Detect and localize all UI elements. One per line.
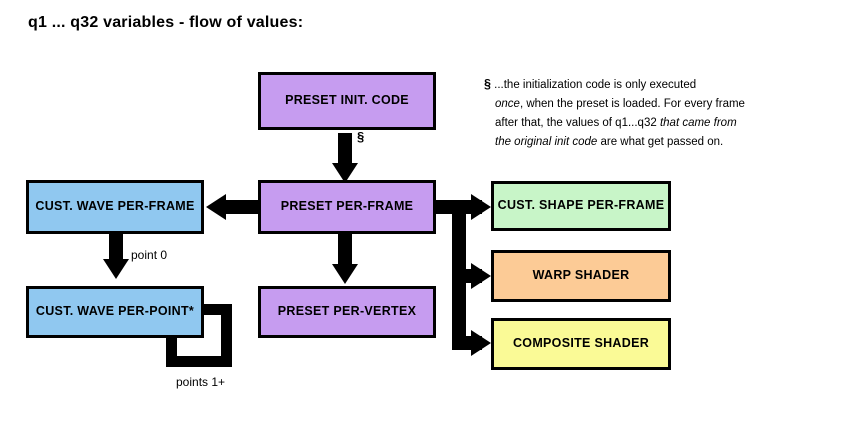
node-cust-shape-per-frame[interactable]: CUST. SHAPE PER-FRAME <box>491 181 671 231</box>
node-preset-init-code[interactable]: PRESET INIT. CODE <box>258 72 436 130</box>
edge-trunk-to-composite-arrowhead <box>471 330 491 356</box>
edge-perframe-to-wave-arrowhead <box>206 194 226 220</box>
edge-perframe-to-pervertex-arrowhead <box>332 264 358 284</box>
edge-trunk-to-shape-arrowhead <box>471 194 491 220</box>
node-cust-wave-per-point-label: CUST. WAVE PER-POINT* <box>36 305 194 319</box>
note-line-1: § ...the initialization code is only exe… <box>484 74 804 95</box>
node-warp-shader[interactable]: WARP SHADER <box>491 250 671 302</box>
node-preset-per-frame[interactable]: PRESET PER-FRAME <box>258 180 436 234</box>
edge-init-to-perframe-stem <box>338 133 352 167</box>
edge-label-points-1plus: points 1+ <box>176 375 225 389</box>
node-preset-init-code-label: PRESET INIT. CODE <box>285 94 409 108</box>
note-line-4-text: are what get passed on. <box>597 136 723 148</box>
node-composite-shader-label: COMPOSITE SHADER <box>513 337 649 351</box>
node-cust-wave-per-point[interactable]: CUST. WAVE PER-POINT* <box>26 286 204 338</box>
node-cust-wave-per-frame-label: CUST. WAVE PER-FRAME <box>35 200 194 214</box>
edge-perframe-to-wave-stem <box>226 200 262 214</box>
edge-label-point-0: point 0 <box>131 248 167 262</box>
node-preset-per-vertex-label: PRESET PER-VERTEX <box>278 305 416 319</box>
edge-init-to-perframe-marker: § <box>357 129 364 144</box>
edge-waveframe-to-wavepoint-arrowhead <box>103 259 129 279</box>
footnote-note: § ...the initialization code is only exe… <box>484 74 804 152</box>
node-preset-per-frame-label: PRESET PER-FRAME <box>281 200 414 214</box>
note-line-2-text: , when the preset is loaded. For every f… <box>520 98 745 110</box>
note-line-1-text: ...the initialization code is only execu… <box>494 79 696 91</box>
edge-wavepoint-loop-left <box>166 336 177 360</box>
note-emphasis-orig-init: the original init code <box>495 136 597 148</box>
node-warp-shader-label: WARP SHADER <box>533 269 630 283</box>
note-emphasis-came-from: that came from <box>660 117 737 129</box>
note-line-3: after that, the values of q1...q32 that … <box>484 114 804 133</box>
edge-trunk-to-warp-arrowhead <box>471 263 491 289</box>
node-cust-wave-per-frame[interactable]: CUST. WAVE PER-FRAME <box>26 180 204 234</box>
section-symbol-icon: § <box>484 77 491 91</box>
node-preset-per-vertex[interactable]: PRESET PER-VERTEX <box>258 286 436 338</box>
note-line-2: once, when the preset is loaded. For eve… <box>484 95 804 114</box>
page-title: q1 ... q32 variables - flow of values: <box>28 14 303 32</box>
note-line-4: the original init code are what get pass… <box>484 133 804 152</box>
diagram-canvas: q1 ... q32 variables - flow of values: §… <box>0 0 850 429</box>
note-emphasis-once: once <box>495 98 520 110</box>
node-composite-shader[interactable]: COMPOSITE SHADER <box>491 318 671 370</box>
note-line-3-text: after that, the values of q1...q32 <box>495 117 660 129</box>
node-cust-shape-per-frame-label: CUST. SHAPE PER-FRAME <box>498 199 665 213</box>
